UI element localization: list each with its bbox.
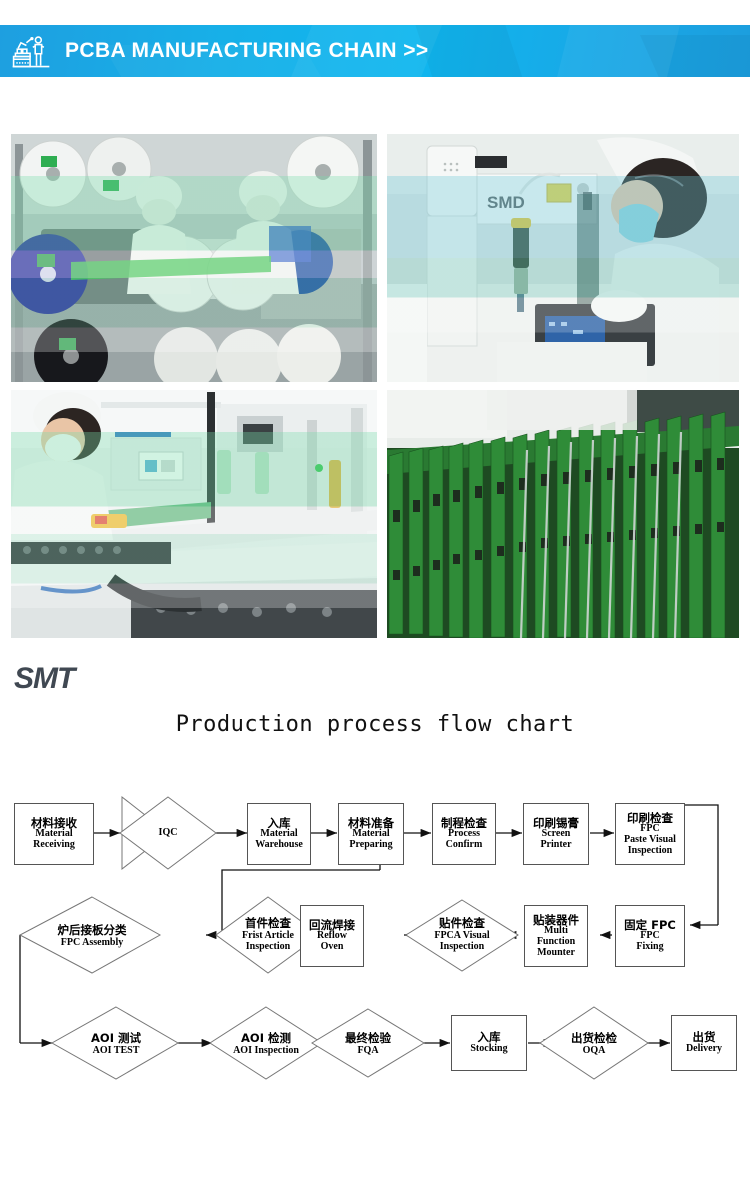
node-label-en: Preparing — [349, 840, 392, 851]
node-label-en: FQA — [357, 1045, 378, 1056]
flow-node-screen-printer[interactable]: 印刷锡膏 Screen Printer — [523, 803, 589, 865]
flow-node-paste-visual-inspection[interactable]: 印刷检查 FPC Paste Visual Inspection — [615, 803, 685, 865]
flow-node-fpc-fixing[interactable]: 固定 FPC FPC Fixing — [615, 905, 685, 967]
node-label-en: Oven — [321, 942, 344, 953]
node-label-en: Paste Visual — [624, 835, 676, 846]
node-label-en: Function — [537, 937, 575, 948]
flow-node-material-preparing[interactable]: 材料准备 Material Preparing — [338, 803, 404, 865]
photo-4-artwork — [387, 390, 739, 638]
flow-node-aoi-test[interactable]: AOI 测试 AOI TEST — [64, 1029, 168, 1059]
node-label-en: Mounter — [537, 948, 575, 959]
flow-node-stocking[interactable]: 入库 Stocking — [451, 1015, 527, 1071]
node-label-en: Inspection — [440, 941, 484, 952]
node-label-en: AOI Inspection — [233, 1045, 299, 1056]
node-label-cn: 首件检查 — [245, 917, 291, 930]
flow-node-iqc[interactable]: IQC — [128, 819, 208, 847]
photo-1-artwork — [11, 134, 377, 382]
production-flowchart: 材料接收 Material Receiving IQC 入库 Material … — [0, 745, 750, 1145]
flow-node-first-article-inspection[interactable]: 首件检查 Frist Article Inspection — [222, 917, 314, 953]
photo-assembly-line-conveyor — [11, 390, 377, 638]
node-label-en: FPC Assembly — [61, 937, 124, 948]
flow-node-material-receiving[interactable]: 材料接收 Material Receiving — [14, 803, 94, 865]
factory-manufacturing-icon — [9, 29, 53, 73]
flow-node-material-warehouse[interactable]: 入库 Material Warehouse — [247, 803, 311, 865]
photo-component-reels-operators — [11, 134, 377, 382]
node-label-cn: AOI 检测 — [241, 1032, 291, 1045]
node-label-cn: 出货 — [693, 1031, 716, 1043]
flow-node-multi-function-mounter[interactable]: 贴装器件 Multi Function Mounter — [524, 905, 588, 967]
flow-node-delivery[interactable]: 出货 Delivery — [671, 1015, 737, 1071]
node-label-en: Stocking — [470, 1044, 507, 1055]
photo-populated-pcb-rack — [387, 390, 739, 638]
flow-node-fpca-visual-inspection[interactable]: 贴件检查 FPCA Visual Inspection — [414, 917, 510, 953]
node-label-en: IQC — [159, 827, 178, 838]
banner-title: PCBA MANUFACTURING CHAIN >> — [65, 39, 429, 63]
photo-3-artwork — [11, 390, 377, 638]
node-label-cn: 出货检检 — [571, 1032, 617, 1045]
photo-smd-dispensing-machine: SMD — [387, 134, 739, 382]
node-label-en: Inspection — [246, 941, 290, 952]
flow-node-process-confirm[interactable]: 制程检查 Process Confirm — [432, 803, 496, 865]
node-label-en: Confirm — [446, 840, 483, 851]
svg-text:SMD: SMD — [487, 193, 525, 212]
node-label-en: FPCA Visual — [434, 930, 489, 941]
node-label-en: Inspection — [628, 846, 672, 857]
flow-node-oqa[interactable]: 出货检检 OQA — [552, 1029, 636, 1059]
flowchart-title: Production process flow chart — [0, 712, 750, 737]
page-banner: PCBA MANUFACTURING CHAIN >> — [0, 0, 750, 100]
photo-gallery: SMD — [11, 100, 739, 638]
node-label-en: Fixing — [636, 942, 663, 953]
node-label-en: OQA — [583, 1045, 606, 1056]
node-label-en: Receiving — [33, 840, 75, 851]
node-label-en: Printer — [540, 840, 571, 851]
smt-logo: SMT — [14, 662, 750, 696]
node-label-cn: 炉后接板分类 — [58, 924, 127, 937]
photo-2-artwork: SMD — [387, 134, 739, 382]
node-label-cn: 入库 — [478, 1031, 501, 1043]
node-label-en: AOI TEST — [93, 1045, 140, 1056]
flow-node-aoi-inspection[interactable]: AOI 检测 AOI Inspection — [212, 1029, 320, 1059]
node-label-en: Warehouse — [255, 840, 303, 851]
node-label-en: Delivery — [686, 1044, 722, 1055]
flow-node-fpc-assembly[interactable]: 炉后接板分类 FPC Assembly — [30, 921, 154, 951]
banner-bar: PCBA MANUFACTURING CHAIN >> — [0, 25, 750, 77]
node-label-cn: 最终检验 — [345, 1032, 391, 1045]
flow-node-fqa[interactable]: 最终检验 FQA — [324, 1029, 412, 1059]
node-label-cn: 贴件检查 — [439, 917, 485, 930]
node-label-en: Frist Article — [242, 930, 294, 941]
node-label-cn: AOI 测试 — [91, 1032, 141, 1045]
